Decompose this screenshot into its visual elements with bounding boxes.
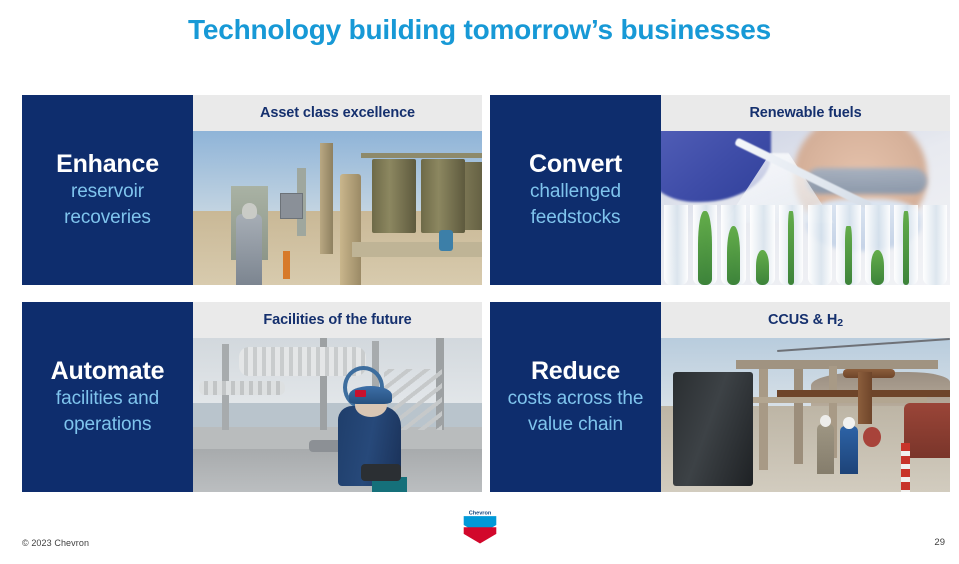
- card-reduce-right: CCUS & H2: [661, 302, 950, 492]
- svg-text:Chevron: Chevron: [468, 510, 491, 516]
- page-title: Technology building tomorrow’s businesse…: [0, 10, 959, 50]
- photo-algae: [698, 211, 712, 285]
- photo-test-tube: [693, 205, 718, 285]
- photo-brown-pipe: [858, 372, 872, 424]
- photo-valve: [863, 427, 880, 447]
- card-automate-label: Automate facilities and operations: [22, 302, 193, 492]
- card-convert-label: Convert challenged feedstocks: [490, 95, 661, 285]
- card-automate-desc-line2: operations: [64, 412, 152, 438]
- card-enhance-header: Asset class excellence: [193, 95, 482, 131]
- photo-algae: [727, 226, 741, 285]
- photo-test-tube: [750, 205, 775, 285]
- card-reduce-label: Reduce costs across the value chain: [490, 302, 661, 492]
- photo-worker-body: [817, 424, 834, 473]
- photo-test-tube: [664, 205, 689, 285]
- photo-skid: [352, 242, 482, 257]
- card-enhance[interactable]: Enhance reservoir recoveries Asset class…: [22, 95, 482, 285]
- card-convert-right: Renewable fuels: [661, 95, 950, 285]
- photo-hardhat-logo: [355, 390, 367, 396]
- card-convert-verb: Convert: [529, 149, 622, 179]
- photo-test-tube: [865, 205, 890, 285]
- card-automate-right: Facilities of the future: [193, 302, 482, 492]
- photo-storage-tank: [465, 162, 482, 230]
- card-enhance-desc-line2: recoveries: [64, 205, 151, 231]
- photo-worker-body: [840, 426, 857, 474]
- photo-storage-tank: [421, 159, 464, 233]
- photo-worker-hardhat: [242, 203, 256, 218]
- footer-copyright: © 2023 Chevron: [22, 538, 89, 548]
- photo-safety-post: [901, 443, 910, 492]
- photo-test-tube: [721, 205, 746, 285]
- card-convert-desc-line1: challenged: [530, 179, 621, 205]
- photo-pipe-rack-leg: [759, 369, 768, 471]
- photo-algae: [871, 250, 885, 285]
- photo-valve: [439, 230, 453, 252]
- card-automate-desc-line1: facilities and: [56, 386, 159, 412]
- photo-test-tube: [808, 205, 833, 285]
- card-enhance-desc-line1: reservoir: [71, 179, 144, 205]
- card-reduce-desc-line2: value chain: [528, 412, 623, 438]
- photo-storage-tank: [372, 159, 415, 233]
- card-enhance-verb: Enhance: [56, 149, 159, 179]
- photo-separator-vessel: [340, 174, 360, 285]
- photo-horizontal-vessel: [199, 381, 286, 395]
- photo-algae: [756, 250, 770, 285]
- photo-catwalk: [361, 153, 482, 158]
- card-reduce[interactable]: Reduce costs across the value chain CCUS…: [490, 302, 950, 492]
- card-automate-photo: [193, 338, 482, 492]
- photo-test-tube: [779, 205, 804, 285]
- card-reduce-desc-line1: costs across the: [508, 386, 644, 412]
- card-enhance-label: Enhance reservoir recoveries: [22, 95, 193, 285]
- photo-worker-body: [236, 214, 262, 285]
- card-convert[interactable]: Convert challenged feedstocks Renewable …: [490, 95, 950, 285]
- photo-test-tube: [923, 205, 948, 285]
- card-automate[interactable]: Automate facilities and operations Facil…: [22, 302, 482, 492]
- photo-algae: [788, 211, 794, 285]
- card-reduce-photo: [661, 338, 950, 492]
- photo-pipe-rack-beam: [753, 397, 926, 403]
- page-number: 29: [934, 537, 945, 548]
- photo-control-panel: [280, 193, 303, 219]
- card-reduce-header: CCUS & H2: [661, 302, 950, 338]
- photo-pipe-rack-beam: [736, 360, 938, 369]
- chevron-logo-icon: Chevron: [461, 508, 499, 548]
- photo-algae: [845, 226, 851, 285]
- card-convert-desc-line2: feedstocks: [531, 205, 621, 231]
- photo-black-process-unit: [673, 372, 754, 486]
- photo-orange-post: [283, 251, 290, 279]
- card-enhance-photo: [193, 131, 482, 285]
- card-reduce-verb: Reduce: [531, 356, 620, 386]
- card-grid: Enhance reservoir recoveries Asset class…: [22, 95, 950, 492]
- slide: Technology building tomorrow’s businesse…: [0, 0, 959, 564]
- card-automate-verb: Automate: [51, 356, 165, 386]
- card-reduce-header-text: CCUS & H: [768, 312, 837, 328]
- card-enhance-right: Asset class excellence: [193, 95, 482, 285]
- photo-test-tube-rack: [661, 205, 950, 285]
- photo-column: [320, 143, 333, 254]
- photo-worker-hardhat: [843, 417, 855, 429]
- photo-red-tank: [904, 403, 950, 458]
- photo-algae: [903, 211, 909, 285]
- card-reduce-header-subscript: 2: [837, 317, 843, 329]
- photo-drone-controller: [361, 464, 401, 481]
- card-convert-header: Renewable fuels: [661, 95, 950, 131]
- card-automate-header: Facilities of the future: [193, 302, 482, 338]
- photo-test-tube: [894, 205, 919, 285]
- card-convert-photo: [661, 131, 950, 285]
- photo-pipe-rack-leg: [794, 369, 803, 464]
- photo-test-tube: [836, 205, 861, 285]
